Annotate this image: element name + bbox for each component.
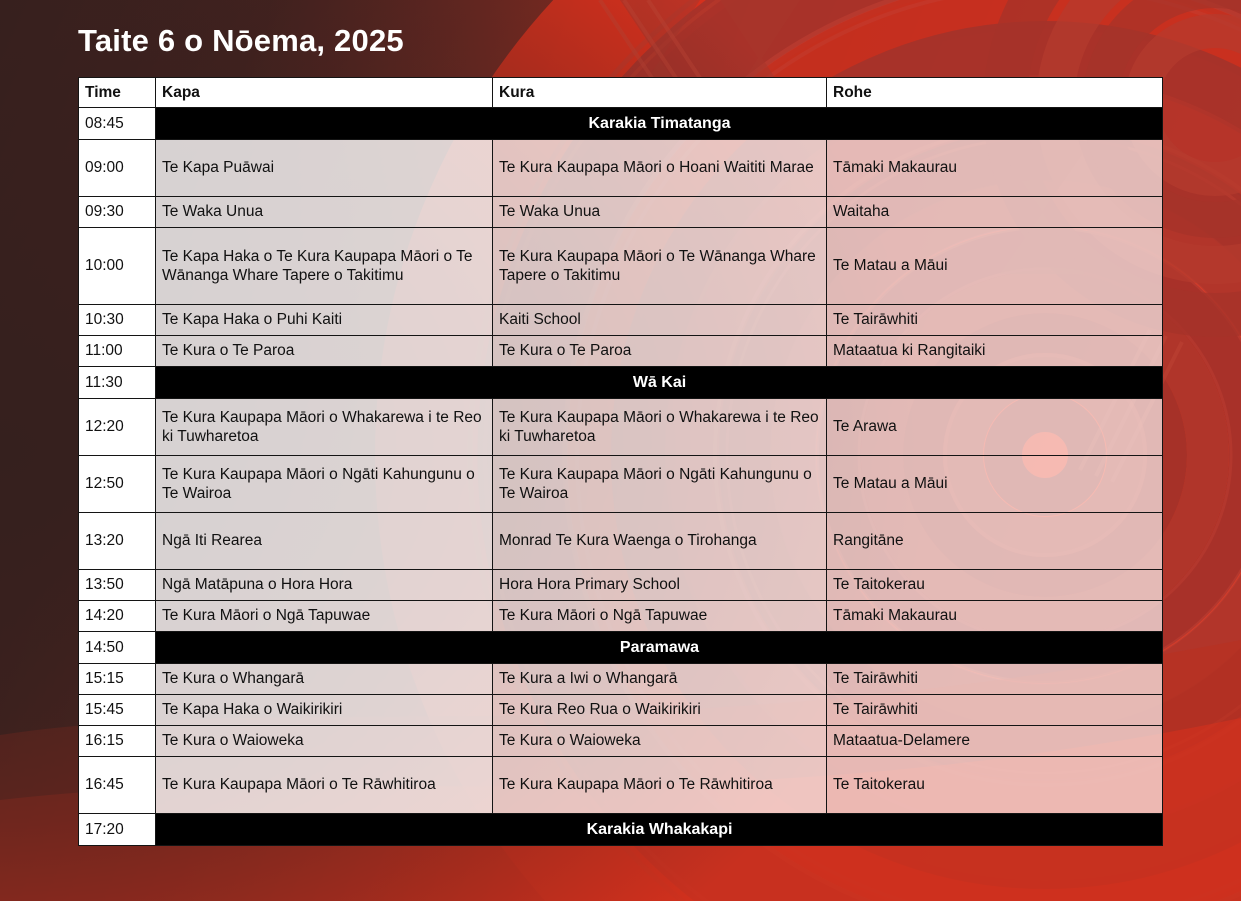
- cell-time: 15:15: [79, 664, 156, 695]
- cell-kapa: Ngā Matāpuna o Hora Hora: [156, 570, 493, 601]
- table-row: 09:00Te Kapa PuāwaiTe Kura Kaupapa Māori…: [79, 140, 1163, 197]
- cell-kapa: Te Kura Māori o Ngā Tapuwae: [156, 601, 493, 632]
- table-header-row: Time Kapa Kura Rohe: [79, 78, 1163, 108]
- cell-time: 10:00: [79, 228, 156, 305]
- cell-kura: Te Kura Kaupapa Māori o Hoani Waititi Ma…: [493, 140, 827, 197]
- page-title: Taite 6 o Nōema, 2025: [78, 22, 404, 60]
- cell-rohe: Te Tairāwhiti: [827, 664, 1163, 695]
- column-header-kapa: Kapa: [156, 78, 493, 108]
- cell-kapa: Ngā Iti Rearea: [156, 513, 493, 570]
- column-header-kura: Kura: [493, 78, 827, 108]
- table-row: 13:20Ngā Iti ReareaMonrad Te Kura Waenga…: [79, 513, 1163, 570]
- cell-rohe: Mataatua ki Rangitaiki: [827, 336, 1163, 367]
- schedule-banner-row: 17:20Karakia Whakakapi: [79, 814, 1163, 846]
- cell-kura: Te Kura o Waioweka: [493, 726, 827, 757]
- cell-kura: Te Kura Kaupapa Māori o Te Rāwhitiroa: [493, 757, 827, 814]
- table-row: 16:45Te Kura Kaupapa Māori o Te Rāwhitir…: [79, 757, 1163, 814]
- cell-time: 13:20: [79, 513, 156, 570]
- cell-rohe: Te Matau a Māui: [827, 456, 1163, 513]
- cell-kura: Hora Hora Primary School: [493, 570, 827, 601]
- cell-rohe: Te Taitokerau: [827, 757, 1163, 814]
- table-header: Time Kapa Kura Rohe: [79, 78, 1163, 108]
- cell-time: 12:20: [79, 399, 156, 456]
- cell-time: 17:20: [79, 814, 156, 846]
- cell-kapa: Te Kapa Haka o Waikirikiri: [156, 695, 493, 726]
- table-row: 10:00Te Kapa Haka o Te Kura Kaupapa Māor…: [79, 228, 1163, 305]
- cell-kapa: Te Kapa Puāwai: [156, 140, 493, 197]
- table-row: 13:50Ngā Matāpuna o Hora HoraHora Hora P…: [79, 570, 1163, 601]
- cell-time: 08:45: [79, 108, 156, 140]
- cell-rohe: Tāmaki Makaurau: [827, 140, 1163, 197]
- cell-kapa: Te Kura Kaupapa Māori o Ngāti Kahungunu …: [156, 456, 493, 513]
- cell-time: 14:50: [79, 632, 156, 664]
- table-row: 14:20Te Kura Māori o Ngā TapuwaeTe Kura …: [79, 601, 1163, 632]
- schedule-table: Time Kapa Kura Rohe 08:45Karakia Timatan…: [78, 77, 1163, 846]
- table-row: 11:00Te Kura o Te ParoaTe Kura o Te Paro…: [79, 336, 1163, 367]
- cell-kura: Te Kura a Iwi o Whangarā: [493, 664, 827, 695]
- cell-rohe: Te Taitokerau: [827, 570, 1163, 601]
- cell-time: 16:45: [79, 757, 156, 814]
- cell-kura: Te Kura Kaupapa Māori o Te Wānanga Whare…: [493, 228, 827, 305]
- schedule-banner-row: 08:45Karakia Timatanga: [79, 108, 1163, 140]
- cell-kapa: Te Waka Unua: [156, 197, 493, 228]
- table-row: 10:30Te Kapa Haka o Puhi KaitiKaiti Scho…: [79, 305, 1163, 336]
- cell-kapa: Te Kura o Te Paroa: [156, 336, 493, 367]
- cell-banner-label: Wā Kai: [156, 367, 1163, 399]
- cell-rohe: Te Tairāwhiti: [827, 695, 1163, 726]
- cell-kapa: Te Kura o Whangarā: [156, 664, 493, 695]
- table-row: 09:30Te Waka UnuaTe Waka UnuaWaitaha: [79, 197, 1163, 228]
- cell-kapa: Te Kura Kaupapa Māori o Whakarewa i te R…: [156, 399, 493, 456]
- cell-time: 09:00: [79, 140, 156, 197]
- cell-time: 09:30: [79, 197, 156, 228]
- cell-rohe: Mataatua-Delamere: [827, 726, 1163, 757]
- cell-time: 13:50: [79, 570, 156, 601]
- cell-rohe: Rangitāne: [827, 513, 1163, 570]
- cell-rohe: Waitaha: [827, 197, 1163, 228]
- cell-kura: Te Kura o Te Paroa: [493, 336, 827, 367]
- cell-time: 16:15: [79, 726, 156, 757]
- cell-time: 12:50: [79, 456, 156, 513]
- cell-kura: Te Kura Kaupapa Māori o Whakarewa i te R…: [493, 399, 827, 456]
- table-row: 12:20Te Kura Kaupapa Māori o Whakarewa i…: [79, 399, 1163, 456]
- cell-kura: Te Kura Kaupapa Māori o Ngāti Kahungunu …: [493, 456, 827, 513]
- cell-time: 14:20: [79, 601, 156, 632]
- cell-banner-label: Karakia Timatanga: [156, 108, 1163, 140]
- cell-kura: Monrad Te Kura Waenga o Tirohanga: [493, 513, 827, 570]
- cell-kura: Te Kura Māori o Ngā Tapuwae: [493, 601, 827, 632]
- cell-time: 10:30: [79, 305, 156, 336]
- cell-time: 11:30: [79, 367, 156, 399]
- table-body: 08:45Karakia Timatanga09:00Te Kapa Puāwa…: [79, 108, 1163, 846]
- column-header-time: Time: [79, 78, 156, 108]
- column-header-rohe: Rohe: [827, 78, 1163, 108]
- cell-kapa: Te Kura o Waioweka: [156, 726, 493, 757]
- table-row: 16:15Te Kura o WaiowekaTe Kura o Waiowek…: [79, 726, 1163, 757]
- table-row: 12:50Te Kura Kaupapa Māori o Ngāti Kahun…: [79, 456, 1163, 513]
- cell-time: 11:00: [79, 336, 156, 367]
- table-row: 15:15Te Kura o WhangarāTe Kura a Iwi o W…: [79, 664, 1163, 695]
- schedule-banner-row: 14:50Paramawa: [79, 632, 1163, 664]
- schedule-table-container: Time Kapa Kura Rohe 08:45Karakia Timatan…: [78, 77, 1162, 846]
- cell-rohe: Tāmaki Makaurau: [827, 601, 1163, 632]
- cell-time: 15:45: [79, 695, 156, 726]
- table-row: 15:45Te Kapa Haka o WaikirikiriTe Kura R…: [79, 695, 1163, 726]
- cell-rohe: Te Matau a Māui: [827, 228, 1163, 305]
- cell-rohe: Te Tairāwhiti: [827, 305, 1163, 336]
- cell-kura: Te Waka Unua: [493, 197, 827, 228]
- cell-kapa: Te Kapa Haka o Puhi Kaiti: [156, 305, 493, 336]
- cell-banner-label: Paramawa: [156, 632, 1163, 664]
- cell-kura: Kaiti School: [493, 305, 827, 336]
- cell-kura: Te Kura Reo Rua o Waikirikiri: [493, 695, 827, 726]
- cell-kapa: Te Kapa Haka o Te Kura Kaupapa Māori o T…: [156, 228, 493, 305]
- schedule-banner-row: 11:30Wā Kai: [79, 367, 1163, 399]
- cell-rohe: Te Arawa: [827, 399, 1163, 456]
- cell-banner-label: Karakia Whakakapi: [156, 814, 1163, 846]
- cell-kapa: Te Kura Kaupapa Māori o Te Rāwhitiroa: [156, 757, 493, 814]
